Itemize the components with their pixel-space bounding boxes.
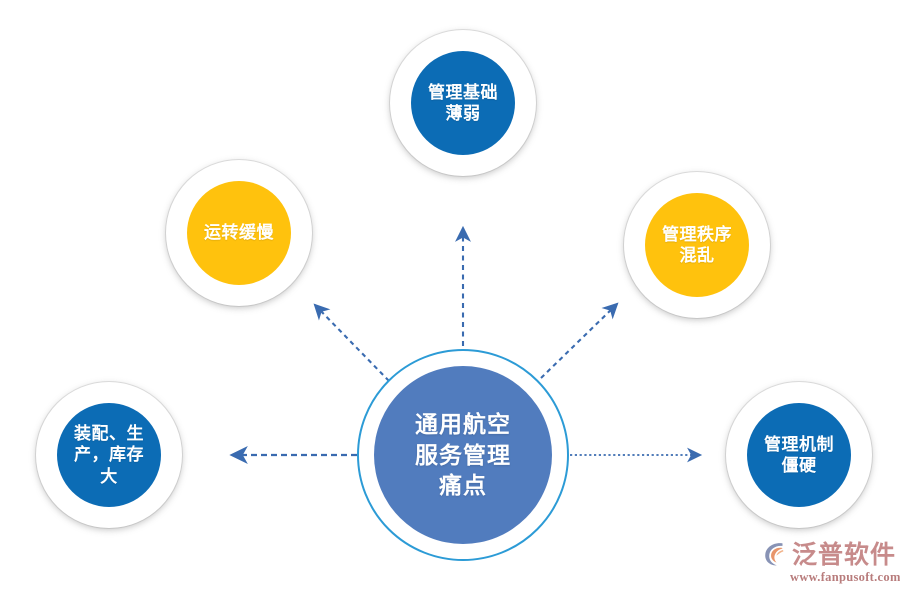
node-assembly-production-inventory[interactable]: 装配、生 产，库存 大	[36, 382, 182, 528]
fanpu-logo-icon	[762, 541, 788, 567]
watermark-logo: 泛普软件 www.fanpusoft.com	[762, 536, 892, 590]
diagram-canvas: 管理基础 薄弱 运转缓慢 管理秩序 混乱 装配、生 产，库存 大 管理机制 僵硬…	[0, 0, 900, 600]
node-label-lower-left: 装配、生 产，库存 大	[57, 403, 161, 507]
connector-to-upper-left	[315, 305, 389, 381]
node-label-top: 管理基础 薄弱	[411, 51, 515, 155]
connector-to-upper-right	[541, 304, 617, 378]
node-management-foundation-weak[interactable]: 管理基础 薄弱	[390, 30, 536, 176]
node-label-upper-left: 运转缓慢	[187, 181, 291, 285]
logo-url-text: www.fanpusoft.com	[790, 570, 900, 585]
node-disordered-management[interactable]: 管理秩序 混乱	[624, 172, 770, 318]
center-hub-label: 通用航空 服务管理 痛点	[374, 366, 552, 544]
logo-brand-text: 泛普软件	[792, 542, 896, 567]
node-label-lower-right: 管理机制 僵硬	[747, 403, 851, 507]
center-hub-node[interactable]: 通用航空 服务管理 痛点	[357, 349, 569, 561]
node-slow-operation[interactable]: 运转缓慢	[166, 160, 312, 306]
node-label-upper-right: 管理秩序 混乱	[645, 193, 749, 297]
node-rigid-management-mechanism[interactable]: 管理机制 僵硬	[726, 382, 872, 528]
logo-row: 泛普软件	[762, 541, 896, 567]
